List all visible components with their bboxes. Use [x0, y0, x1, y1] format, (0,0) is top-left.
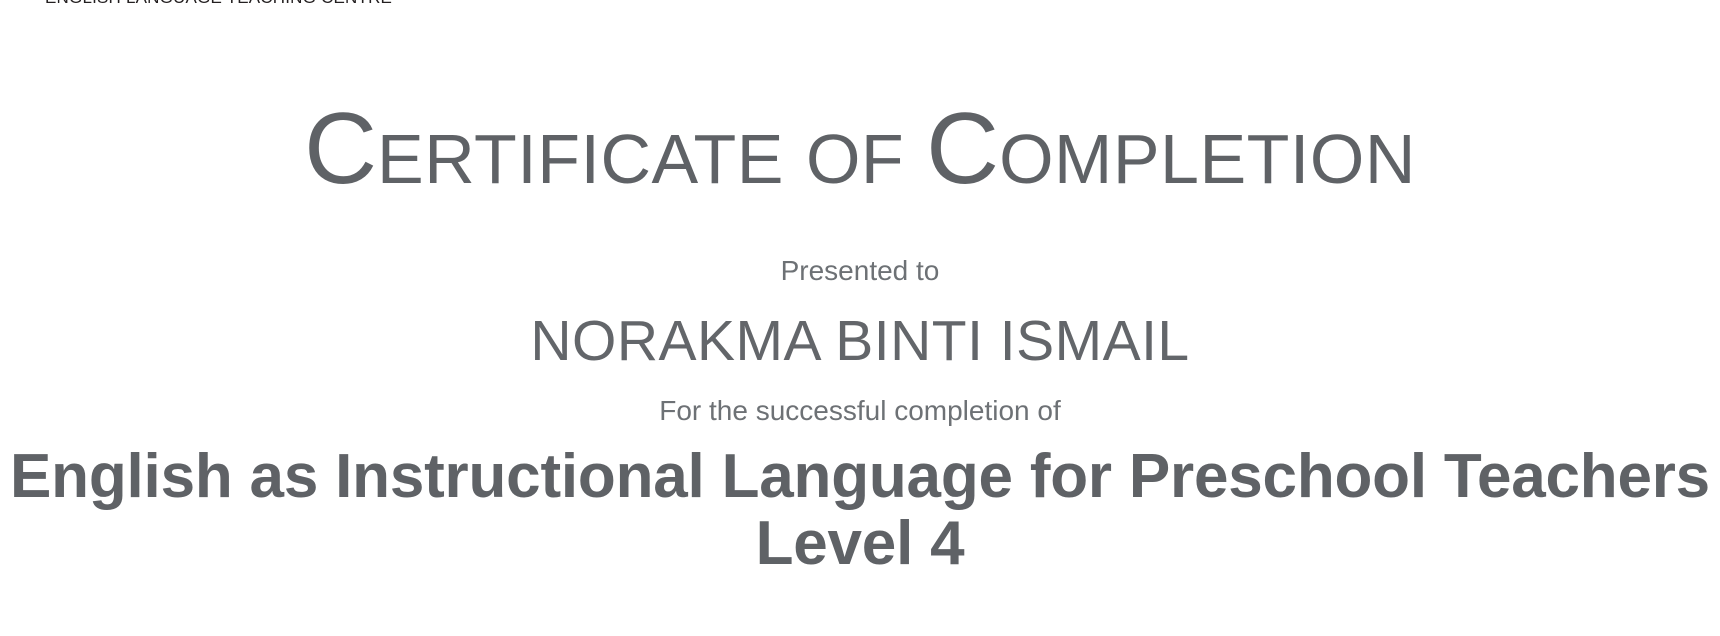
institution-name: ENGLISH LANGUAGE TEACHING CENTRE: [45, 0, 392, 8]
certificate-title: CERTIFICATEOFCOMPLETION: [0, 96, 1720, 202]
institution-header: ENGLISH LANGUAGE TEACHING CENTRE: [0, 0, 1720, 8]
title-word1-rest: ERTIFICATE: [377, 120, 784, 198]
title-word3-initial: C: [926, 93, 999, 205]
course-title: English as Instructional Language for Pr…: [0, 444, 1720, 578]
title-word3-rest: OMPLETION: [999, 120, 1416, 198]
completion-label: For the successful completion of: [0, 395, 1720, 427]
recipient-name: NORAKMA BINTI ISMAIL: [0, 308, 1720, 374]
title-word1-initial: C: [304, 93, 377, 205]
course-title-line-2: Level 4: [0, 511, 1720, 578]
certificate-page: ENGLISH LANGUAGE TEACHING CENTRE CERTIFI…: [0, 0, 1720, 636]
course-title-line-1: English as Instructional Language for Pr…: [0, 444, 1720, 511]
presented-to-label: Presented to: [0, 255, 1720, 287]
title-word2-initial: O: [806, 120, 861, 198]
title-word2-rest: F: [861, 120, 904, 198]
